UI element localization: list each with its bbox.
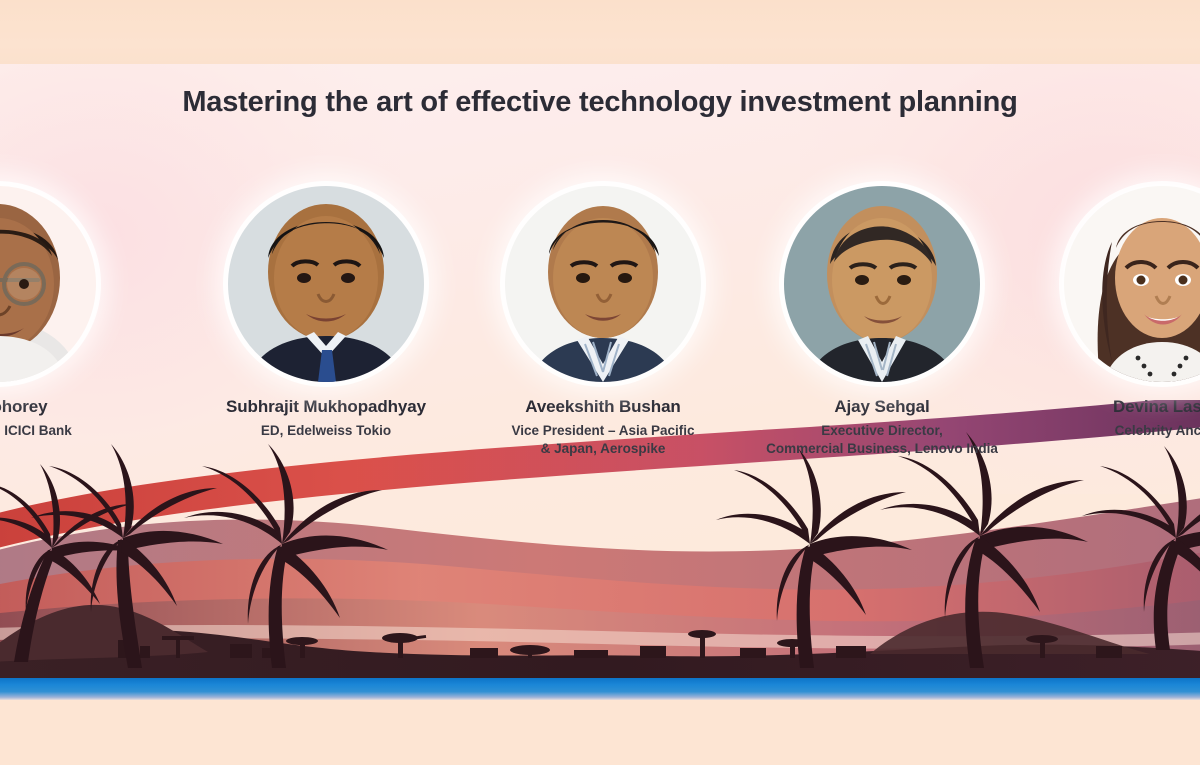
speaker-role: Executive Director, Commercial Business,… — [742, 422, 1022, 458]
speaker-name: Ajay Sehgal — [742, 397, 1022, 417]
speaker-card[interactable]: Aveekshith Bushan Vice President – Asia … — [463, 186, 743, 458]
speaker-name: hay Johorey — [0, 397, 138, 417]
speaker-card[interactable]: hay Johorey tal Strategy, ICICI Bank — [0, 186, 138, 440]
avatar — [0, 186, 96, 382]
avatar — [784, 186, 980, 382]
speaker-name: Subhrajit Mukhopadhyay — [186, 397, 466, 417]
speaker-role-line: Executive Director, — [742, 422, 1022, 440]
speaker-role: Vice President – Asia Pacific & Japan, A… — [463, 422, 743, 458]
speaker-role: ED, Edelweiss Tokio — [186, 422, 466, 440]
poster-canvas: Mastering the art of effective technolog… — [0, 64, 1200, 700]
letterbox-band-bottom — [0, 700, 1200, 765]
speaker-role-line: Vice President – Asia Pacific — [463, 422, 743, 440]
water-strip — [0, 678, 1200, 700]
speaker-name: Aveekshith Bushan — [463, 397, 743, 417]
speaker-card[interactable]: Ajay Sehgal Executive Director, Commerci… — [742, 186, 1022, 458]
avatar — [505, 186, 701, 382]
avatar — [1064, 186, 1200, 382]
speaker-role-line: Celebrity Anch — [1022, 422, 1200, 440]
speaker-name: Devina Lasa — [1022, 397, 1200, 417]
poster-frame: Mastering the art of effective technolog… — [0, 0, 1200, 765]
speaker-card[interactable]: Subhrajit Mukhopadhyay ED, Edelweiss Tok… — [186, 186, 466, 440]
speaker-role-line: & Japan, Aerospike — [463, 440, 743, 458]
speaker-row: hay Johorey tal Strategy, ICICI Bank — [0, 64, 1200, 464]
avatar — [228, 186, 424, 382]
speaker-role-line: tal Strategy, ICICI Bank — [0, 422, 138, 440]
speaker-role-line: ED, Edelweiss Tokio — [186, 422, 466, 440]
speaker-role: tal Strategy, ICICI Bank — [0, 422, 138, 440]
speaker-role-line: Commercial Business, Lenovo India — [742, 440, 1022, 458]
letterbox-band-top — [0, 0, 1200, 64]
speaker-card[interactable]: Devina Lasa Celebrity Anch — [1022, 186, 1200, 440]
speaker-role: Celebrity Anch — [1022, 422, 1200, 440]
